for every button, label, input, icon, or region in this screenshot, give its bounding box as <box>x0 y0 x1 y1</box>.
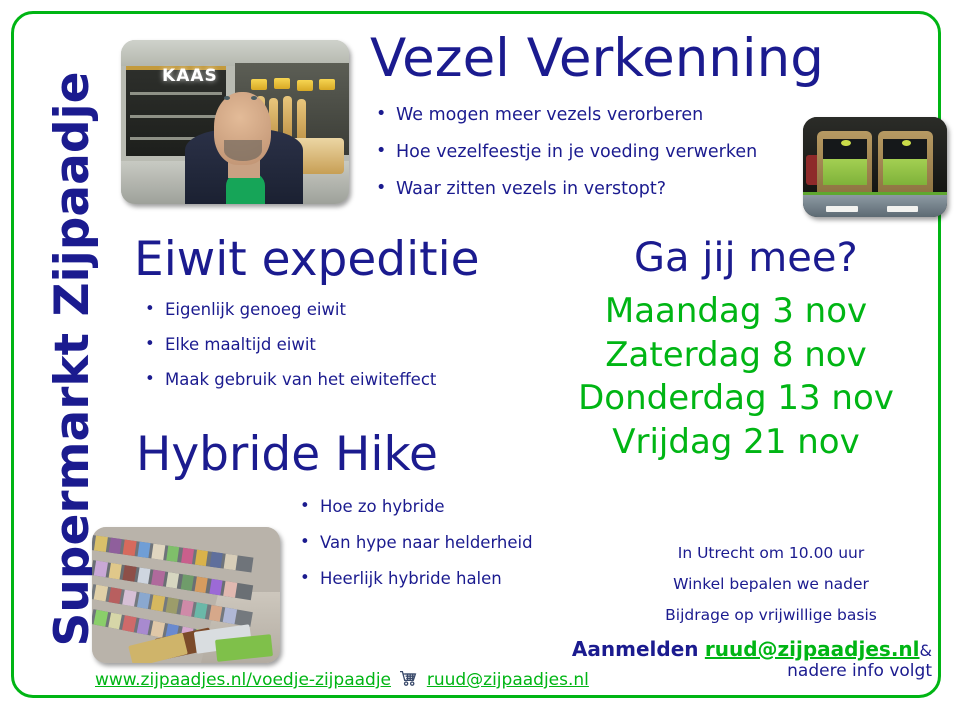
bread-label-dot <box>841 140 851 146</box>
date-list: Maandag 3 nov Zaterdag 8 nov Donderdag 1… <box>546 290 926 464</box>
photo-person-eye-right <box>251 96 257 100</box>
bread-label-green <box>883 159 927 185</box>
signup-ampersand: & <box>920 641 932 660</box>
photo-person-eye-left <box>224 96 230 100</box>
bullet-item: Van hype naar helderheid <box>298 533 533 552</box>
footer-links: www.zijpaadjes.nl/voedje-zijpaadje ruud@… <box>95 670 589 692</box>
bullet-list-vezel: We mogen meer vezels verorberen Hoe veze… <box>374 105 757 216</box>
practical-line-cost: Bijdrage op vrijwillige basis <box>616 600 926 631</box>
photo-cheese-content: KAAS <box>121 40 349 204</box>
heading-hybride-hike: Hybride Hike <box>136 431 438 478</box>
bread-loaf <box>817 131 872 195</box>
photo-wholegrain-bread <box>803 117 947 217</box>
cheese-wheel <box>251 79 267 90</box>
bullet-item: Hoe vezelfeestje in je voeding verwerken <box>374 142 757 162</box>
heading-ga-jij-mee: Ga jij mee? <box>634 238 858 278</box>
signup-label: Aanmelden <box>572 637 699 661</box>
bread-loaf <box>878 131 933 195</box>
date-option: Donderdag 13 nov <box>546 377 926 421</box>
bread-label-dark <box>883 139 927 159</box>
cheese-wheel <box>319 79 335 90</box>
bullet-item: Waar zitten vezels in verstopt? <box>374 179 757 199</box>
shelf-bar <box>130 92 222 95</box>
kaas-sign-text: KAAS <box>162 66 218 86</box>
heading-vezel-verkenning: Vezel Verkenning <box>370 32 824 85</box>
practical-line-location: In Utrecht om 10.00 uur <box>616 538 926 569</box>
cheese-wheel <box>274 78 290 89</box>
shelf-bar <box>130 115 222 118</box>
date-option: Zaterdag 8 nov <box>546 334 926 378</box>
bread-label-green <box>823 159 867 185</box>
cheese-wheel <box>297 80 313 91</box>
photo-aisle-content <box>92 527 280 663</box>
bullet-item: Heerlijk hybride halen <box>298 569 533 588</box>
practical-info: In Utrecht om 10.00 uur Winkel bepalen w… <box>616 538 926 631</box>
bullet-list-eiwit: Eigenlijk genoeg eiwit Elke maaltijd eiw… <box>143 300 436 405</box>
price-tag <box>826 206 858 213</box>
bread-label-dark <box>823 139 867 159</box>
footer-email-link[interactable]: ruud@zijpaadjes.nl <box>427 670 589 690</box>
price-tag <box>887 206 919 213</box>
poster-root: Supermarkt Zijpaadje <box>0 0 960 720</box>
photo-cheese-counter: KAAS <box>121 40 349 204</box>
photo-bread-shelf <box>803 195 947 217</box>
photo-supermarket-aisle <box>92 527 280 663</box>
bread-label-dot <box>902 140 912 146</box>
bullet-item: Hoe zo hybride <box>298 497 533 516</box>
bullet-item: We mogen meer vezels verorberen <box>374 105 757 125</box>
signup-email-link[interactable]: ruud@zijpaadjes.nl <box>705 637 920 661</box>
heading-eiwit-expeditie: Eiwit expeditie <box>134 236 480 283</box>
date-option: Maandag 3 nov <box>546 290 926 334</box>
website-link[interactable]: www.zijpaadjes.nl/voedje-zijpaadje <box>95 670 391 690</box>
bullet-item: Elke maaltijd eiwit <box>143 335 436 354</box>
bullet-list-hybride: Hoe zo hybride Van hype naar helderheid … <box>298 497 533 605</box>
bullet-item: Eigenlijk genoeg eiwit <box>143 300 436 319</box>
photo-bread-content <box>803 117 947 217</box>
bullet-item: Maak gebruik van het eiwiteffect <box>143 370 436 389</box>
date-option: Vrijdag 21 nov <box>546 421 926 465</box>
practical-line-store: Winkel bepalen we nader <box>616 569 926 600</box>
shopping-cart-icon <box>399 670 418 692</box>
